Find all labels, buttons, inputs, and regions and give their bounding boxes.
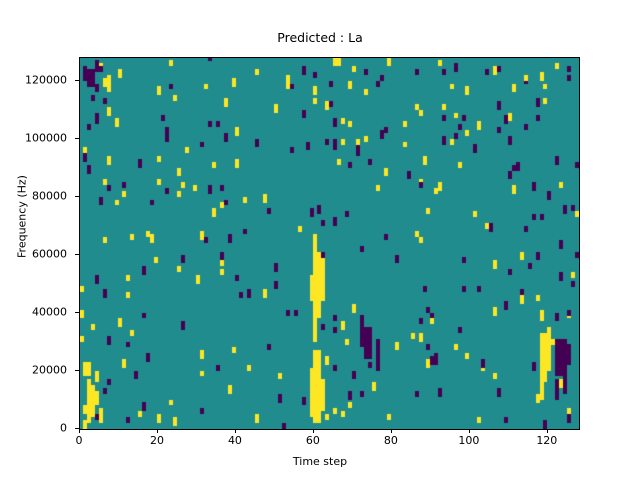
y-tick-label: 20000: [32, 364, 67, 377]
x-tick-label: 100: [458, 434, 479, 447]
x-tick-label: 0: [76, 434, 83, 447]
y-tick-label: 40000: [32, 306, 67, 319]
heatmap-image: [80, 58, 579, 429]
y-tick-label: 0: [60, 422, 67, 435]
chart-title: Predicted : La: [0, 30, 640, 45]
x-tick-label: 20: [150, 434, 164, 447]
x-tick-label: 120: [536, 434, 557, 447]
x-axis-label: Time step: [0, 455, 640, 468]
x-tick-label: 60: [306, 434, 320, 447]
y-tick-label: 120000: [25, 74, 67, 87]
x-tick-label: 80: [384, 434, 398, 447]
y-tick-label: 60000: [32, 248, 67, 261]
y-tick-label: 80000: [32, 190, 67, 203]
x-tick-label: 40: [228, 434, 242, 447]
y-tick-label: 100000: [25, 132, 67, 145]
heatmap-plot-area: [79, 57, 580, 430]
matplotlib-figure: Predicted : La Frequency (Hz) Time step …: [0, 0, 640, 480]
